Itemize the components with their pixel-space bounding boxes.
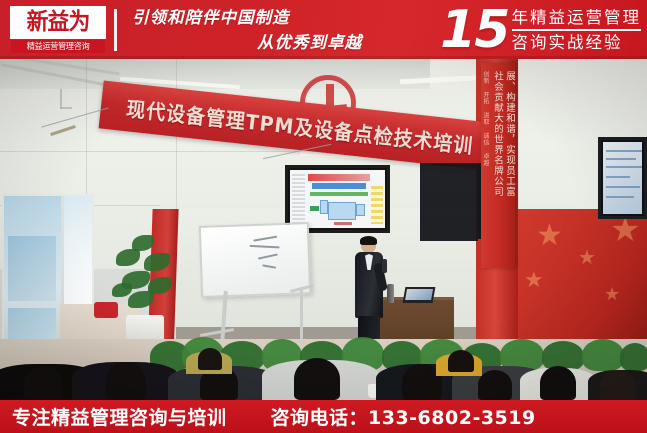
star-decoration-icon: ★ <box>524 267 544 293</box>
slogan-line-2: 从优秀到卓越 <box>128 30 368 55</box>
monitor-content-row <box>606 150 642 152</box>
plant-leaf <box>144 253 170 271</box>
projection-screen-content <box>290 170 385 228</box>
whiteboard-writing <box>250 245 280 249</box>
plant-leaf <box>128 291 154 308</box>
audience-rows <box>0 351 647 400</box>
star-decoration-icon: ★ <box>536 223 563 249</box>
plant-leaf <box>116 249 140 266</box>
footer-tagline: 专注精益管理咨询与培训 <box>12 403 227 430</box>
slogan-line-1: 引领和陪伴中国制造 <box>128 5 368 30</box>
monitor-content-row <box>606 186 640 188</box>
hanging-rod <box>60 107 72 109</box>
header-divider <box>114 9 117 51</box>
audience-head <box>198 348 222 370</box>
whiteboard-writing <box>258 253 278 259</box>
microphone-icon <box>382 259 387 273</box>
company-logo: 新益为 精益运营管理咨询 <box>10 6 106 53</box>
slide-subtitle-bar <box>312 183 366 189</box>
vertical-slogan-banner: 展、构建和谐，实现员工富 社会贡献大的世界名牌公司 创新 开拓 进取 诚信 卓越 <box>481 63 515 268</box>
footer-phone: 咨询电话：133-6802-3519 <box>271 403 536 430</box>
slide-diagram-box <box>320 200 328 214</box>
whiteboard-writing <box>253 236 277 242</box>
whiteboard-writing <box>262 264 276 268</box>
podium-laptop <box>403 287 436 303</box>
vertical-banner-column-3: 创新 开拓 进取 诚信 卓越 <box>480 71 491 268</box>
promotional-banner-image: 新益为 精益运营管理咨询 引领和陪伴中国制造 从优秀到卓越 15 年精益运营管理… <box>0 0 647 433</box>
plant-leaf <box>112 283 132 297</box>
presenter-hair <box>360 236 377 245</box>
monitor-content-row <box>606 176 630 178</box>
logo-mark: 新益为 <box>10 6 106 39</box>
years-line-1: 年精益运营管理 <box>512 6 642 29</box>
slide-left-panel <box>292 174 305 228</box>
slide-right-panel <box>371 186 383 224</box>
training-scene-photo: ★ ★ ★ ★ ★ 现代设备管理TPM及设备点检技术培训 <box>0 59 647 400</box>
monitor-screen <box>603 142 642 214</box>
header-bar: 新益为 精益运营管理咨询 引领和陪伴中国制造 从优秀到卓越 15 年精益运营管理… <box>0 0 647 59</box>
monitor-content-row <box>606 196 634 198</box>
audience-head <box>600 370 636 400</box>
audience-head <box>448 350 474 372</box>
years-number: 15 <box>440 4 508 56</box>
years-line-2: 咨询实战经验 <box>512 31 642 54</box>
slide-diagram-arrow <box>310 206 319 211</box>
audience-head <box>478 370 512 400</box>
hanging-rod <box>60 89 62 109</box>
wall-mounted-monitor <box>598 137 647 219</box>
water-bottle <box>387 284 394 303</box>
slide-diagram-arrow <box>334 222 352 225</box>
vertical-banner-column-2: 社会贡献大的世界名牌公司 <box>492 71 503 268</box>
red-wall-panel: ★ ★ ★ ★ ★ <box>518 209 647 341</box>
wall-monitor-dark <box>420 163 478 241</box>
vertical-banner-column-1: 展、构建和谐，实现员工富 <box>504 71 515 268</box>
slide-diagram-box <box>328 202 356 220</box>
audience-head <box>106 362 146 400</box>
door-pane <box>8 236 56 301</box>
slide-green-bar <box>310 192 368 196</box>
wall-grid-line <box>86 59 87 209</box>
years-text-block: 年精益运营管理 咨询实战经验 <box>512 6 642 54</box>
slide-title-bar <box>308 174 370 181</box>
whiteboard-flipchart <box>199 222 311 298</box>
header-slogan: 引领和陪伴中国制造 从优秀到卓越 <box>128 5 368 55</box>
footer-bar: 专注精益管理咨询与培训 咨询电话：133-6802-3519 <box>0 400 647 433</box>
monitor-content-row <box>606 158 636 160</box>
monitor-content-row <box>606 166 642 168</box>
logo-brand-subtitle: 精益运营管理咨询 <box>11 40 105 53</box>
logo-brand-name: 新益为 <box>27 8 90 37</box>
audience-head <box>24 366 62 400</box>
star-decoration-icon: ★ <box>578 245 596 271</box>
audience-head <box>540 366 576 400</box>
experience-badge: 15 年精益运营管理 咨询实战经验 <box>440 2 641 57</box>
slide-diagram-box <box>356 204 365 216</box>
star-decoration-icon: ★ <box>610 217 640 243</box>
wall-grid-line <box>0 151 300 152</box>
audience-head <box>294 358 340 400</box>
star-decoration-icon: ★ <box>604 281 620 307</box>
